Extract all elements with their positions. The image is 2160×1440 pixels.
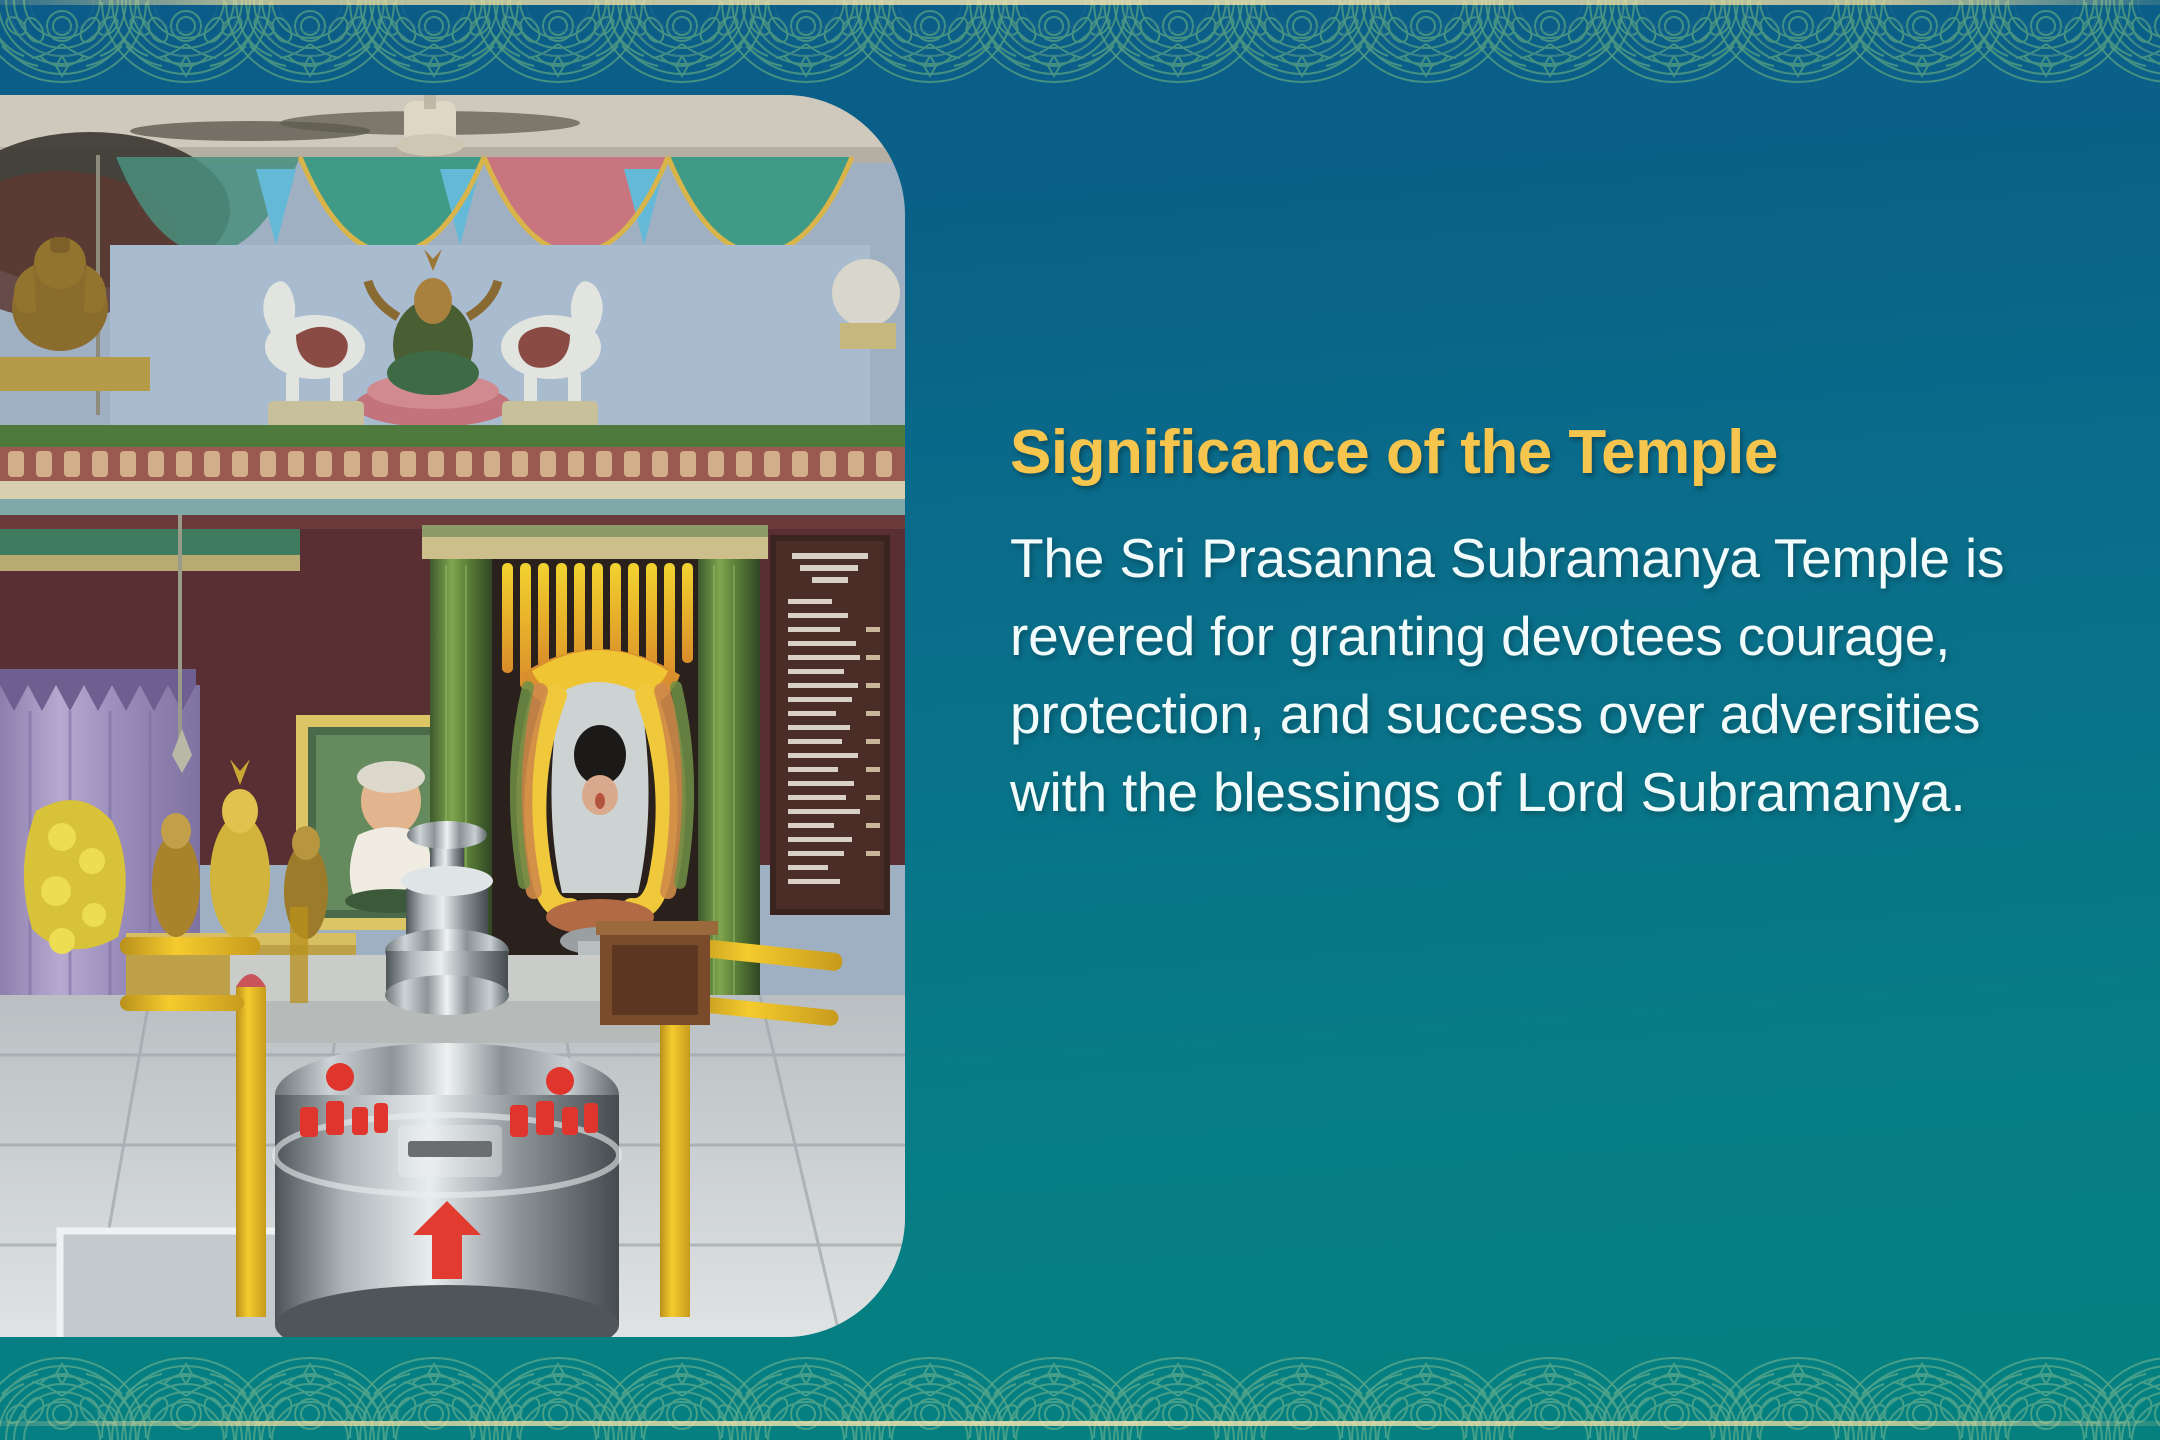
mandala-scallop-icon (0, 0, 2160, 96)
text-column: Significance of the Temple The Sri Prasa… (1010, 420, 2070, 831)
section-title: Significance of the Temple (1010, 420, 2070, 485)
top-ornament-border (0, 0, 2160, 96)
slide-canvas: Significance of the Temple The Sri Prasa… (0, 0, 2160, 1440)
bottom-gold-hairline (0, 1421, 2160, 1426)
seva-price-board (770, 535, 890, 915)
mandala-scallop-icon (0, 1352, 2160, 1440)
temple-interior-photo (0, 95, 905, 1337)
section-body-text: The Sri Prasanna Subramanya Temple is re… (1010, 519, 2070, 831)
temple-interior-illustration (0, 95, 905, 1337)
top-gold-hairline (0, 0, 2160, 5)
carved-cornice (0, 425, 905, 515)
bottom-ornament-border (0, 1352, 2160, 1440)
